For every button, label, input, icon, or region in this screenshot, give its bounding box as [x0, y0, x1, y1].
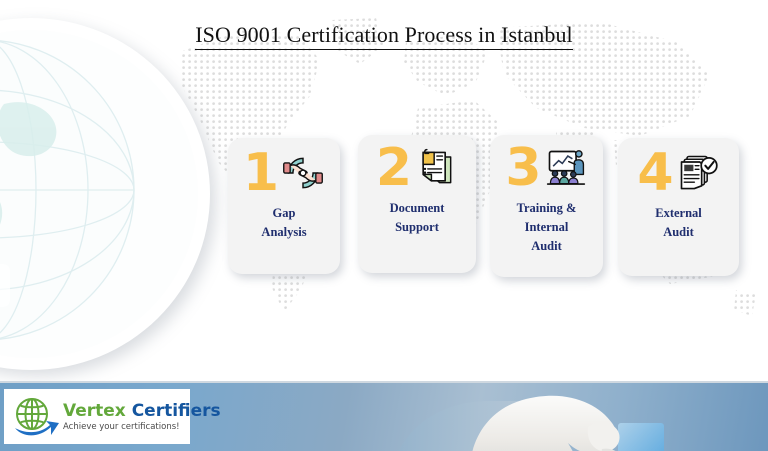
- card-4-number: 4: [637, 147, 673, 199]
- card-4-label-line2: Audit: [655, 223, 702, 242]
- card-3-label: Training & Internal Audit: [511, 199, 583, 264]
- card-1-number: 1: [243, 147, 279, 199]
- brand-name: Vertex Certifiers: [63, 401, 221, 421]
- infographic-canvas: ISO 9001 Certification Process in Istanb…: [0, 0, 768, 451]
- card-1-label-line2: Analysis: [261, 223, 306, 242]
- card-4-label: External Audit: [649, 204, 708, 250]
- brand-name-second: Certifiers: [132, 401, 221, 421]
- training-presentation-icon: [544, 146, 588, 190]
- footer-banner: Vertex Certifiers Achieve your certifica…: [0, 381, 768, 451]
- process-step-card-4[interactable]: 4: [618, 138, 739, 276]
- iso-label-line1: ISO 9001: [0, 270, 6, 285]
- process-step-card-2[interactable]: 2: [358, 135, 476, 273]
- iso-label-line2: Certification: [0, 285, 6, 300]
- card-1-header: 1: [228, 142, 340, 204]
- document-clipboard-icon: [414, 146, 458, 190]
- documents-checkmark-icon: [676, 151, 720, 195]
- card-3-label-line2: Internal: [517, 218, 577, 237]
- card-3-header: 3: [490, 137, 603, 199]
- company-logo[interactable]: Vertex Certifiers Achieve your certifica…: [4, 389, 190, 444]
- globe-arrow-logo-icon: [10, 394, 60, 440]
- card-3-label-line1: Training &: [517, 199, 577, 218]
- globe-icon: [0, 30, 198, 358]
- page-title-text: ISO 9001 Certification Process in Istanb…: [195, 22, 573, 50]
- brand-name-first: Vertex: [63, 401, 126, 421]
- logo-wordmark: Vertex Certifiers Achieve your certifica…: [63, 401, 221, 433]
- iso-certification-panel: ISO 9001 Certification: [0, 18, 210, 370]
- brand-tagline: Achieve your certifications!: [63, 421, 221, 433]
- process-step-card-1[interactable]: 1 Gap Analysis: [228, 138, 340, 274]
- card-2-label-line2: Support: [390, 218, 445, 237]
- iso-certification-label: ISO 9001 Certification: [0, 264, 10, 307]
- hand-touching-screen-photo: [330, 381, 768, 451]
- card-3-number: 3: [505, 142, 541, 194]
- card-2-header: 2: [358, 137, 476, 199]
- card-2-label-line1: Document: [390, 199, 445, 218]
- card-2-number: 2: [376, 142, 412, 194]
- globe-background: [0, 30, 198, 358]
- card-2-label: Document Support: [384, 199, 451, 245]
- process-steps: 1 Gap Analysis: [228, 130, 764, 280]
- handshake-icon: [281, 151, 325, 195]
- card-1-label: Gap Analysis: [255, 204, 312, 250]
- card-1-label-line1: Gap: [261, 204, 306, 223]
- process-step-card-3[interactable]: 3: [490, 135, 603, 277]
- card-4-label-line1: External: [655, 204, 702, 223]
- card-3-label-line3: Audit: [517, 237, 577, 256]
- card-4-header: 4: [618, 142, 739, 204]
